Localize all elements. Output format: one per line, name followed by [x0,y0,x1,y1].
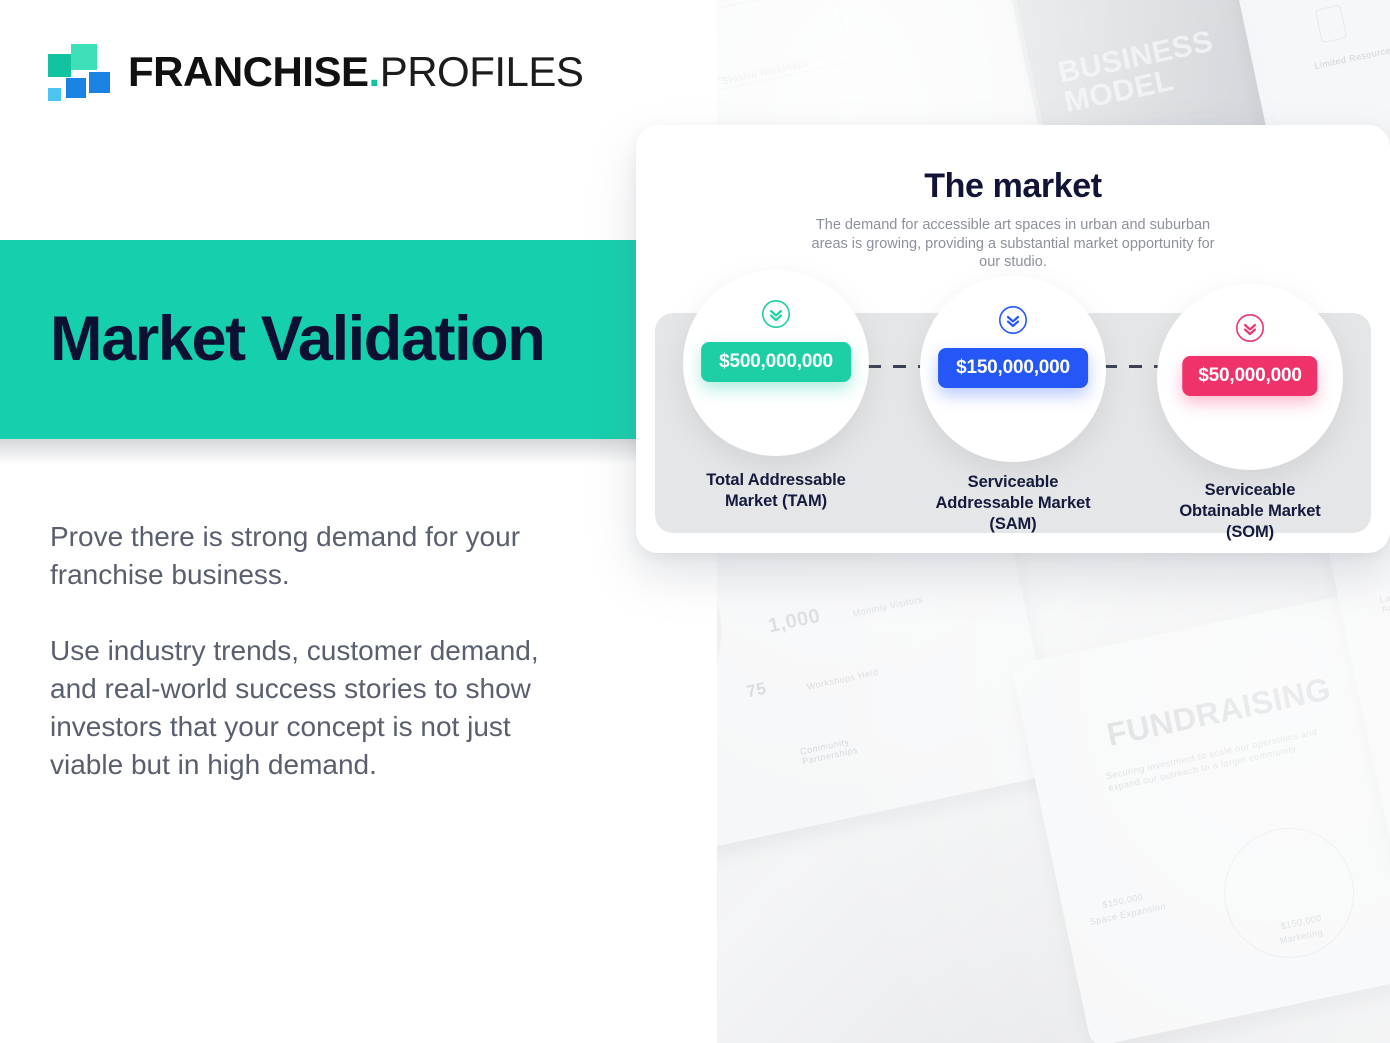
funnel-label-sam: Serviceable Addressable Market (SAM) [920,472,1106,535]
double-chevron-down-icon [1235,313,1265,343]
funnel-circle-sam: $150,000,000 [920,276,1106,462]
squares-logo-icon [48,44,110,99]
funnel-circle-som: $50,000,000 [1157,284,1343,470]
funnel-circle-tam: $500,000,000 [683,270,869,456]
brand-wordmark: FRANCHISE.PROFILES [128,51,583,93]
value-badge-som: $50,000,000 [1182,356,1317,396]
ghost-label: Monthly Visitors [852,594,924,619]
double-chevron-down-icon [998,305,1028,335]
ghost-label: Workshops Held [806,667,879,692]
funnel-label-line: Serviceable [1157,480,1343,501]
funnel-label-tam: Total Addressable Market (TAM) [683,470,869,512]
brand-name-light: PROFILES [380,48,584,95]
funnel-label-line: Total Addressable [683,470,869,491]
card-subtitle: The demand for accessible art spaces in … [803,216,1223,272]
value-badge-sam: $150,000,000 [938,348,1088,388]
paragraph-2: Use industry trends, customer demand, an… [50,632,590,784]
market-funnel: $500,000,000 Total Addressable Market (T… [636,270,1390,540]
funnel-label-line: Addressable Market [920,493,1106,514]
double-chevron-down-icon [761,299,791,329]
funnel-label-som: Serviceable Obtainable Market (SOM) [1157,480,1343,543]
brand-logo[interactable]: FRANCHISE.PROFILES [48,44,583,99]
paragraph-1: Prove there is strong demand for your fr… [50,518,590,594]
funnel-node-tam[interactable]: $500,000,000 Total Addressable Market (T… [683,270,869,512]
card-title: The market [660,167,1366,206]
title-banner: Market Validation [0,240,637,439]
ghost-label: Lack of Accessibility [1379,581,1390,615]
ghost-slide-fundraising: FUNDRAISING Securing investment to scale… [1011,583,1390,1043]
funnel-node-sam[interactable]: $150,000,000 Serviceable Addressable Mar… [920,276,1106,535]
funnel-node-som[interactable]: $50,000,000 Serviceable Obtainable Marke… [1157,284,1343,543]
value-badge-tam: $500,000,000 [701,342,851,382]
ghost-stat: 75 [745,679,769,703]
page-title: Market Validation [0,308,544,371]
body-copy: Prove there is strong demand for your fr… [50,518,590,784]
funnel-label-line: Serviceable [920,472,1106,493]
funnel-label-line: Market (TAM) [683,491,869,512]
funnel-label-line: (SAM) [920,514,1106,535]
ghost-stat: 1,000 [766,605,822,638]
ghost-label: Community Partnerships [799,730,881,766]
ghost-label: Space Expansion [1089,901,1167,927]
brand-name-dot: . [369,48,380,95]
funnel-label-line: Obtainable Market [1157,501,1343,522]
ghost-label: Limited Resources [1313,43,1390,71]
slide-canvas: Drop-In Fees Session Workshops Commissio… [0,0,1390,1043]
funnel-label-line: (SOM) [1157,522,1343,543]
brand-name-bold: FRANCHISE [128,48,369,95]
